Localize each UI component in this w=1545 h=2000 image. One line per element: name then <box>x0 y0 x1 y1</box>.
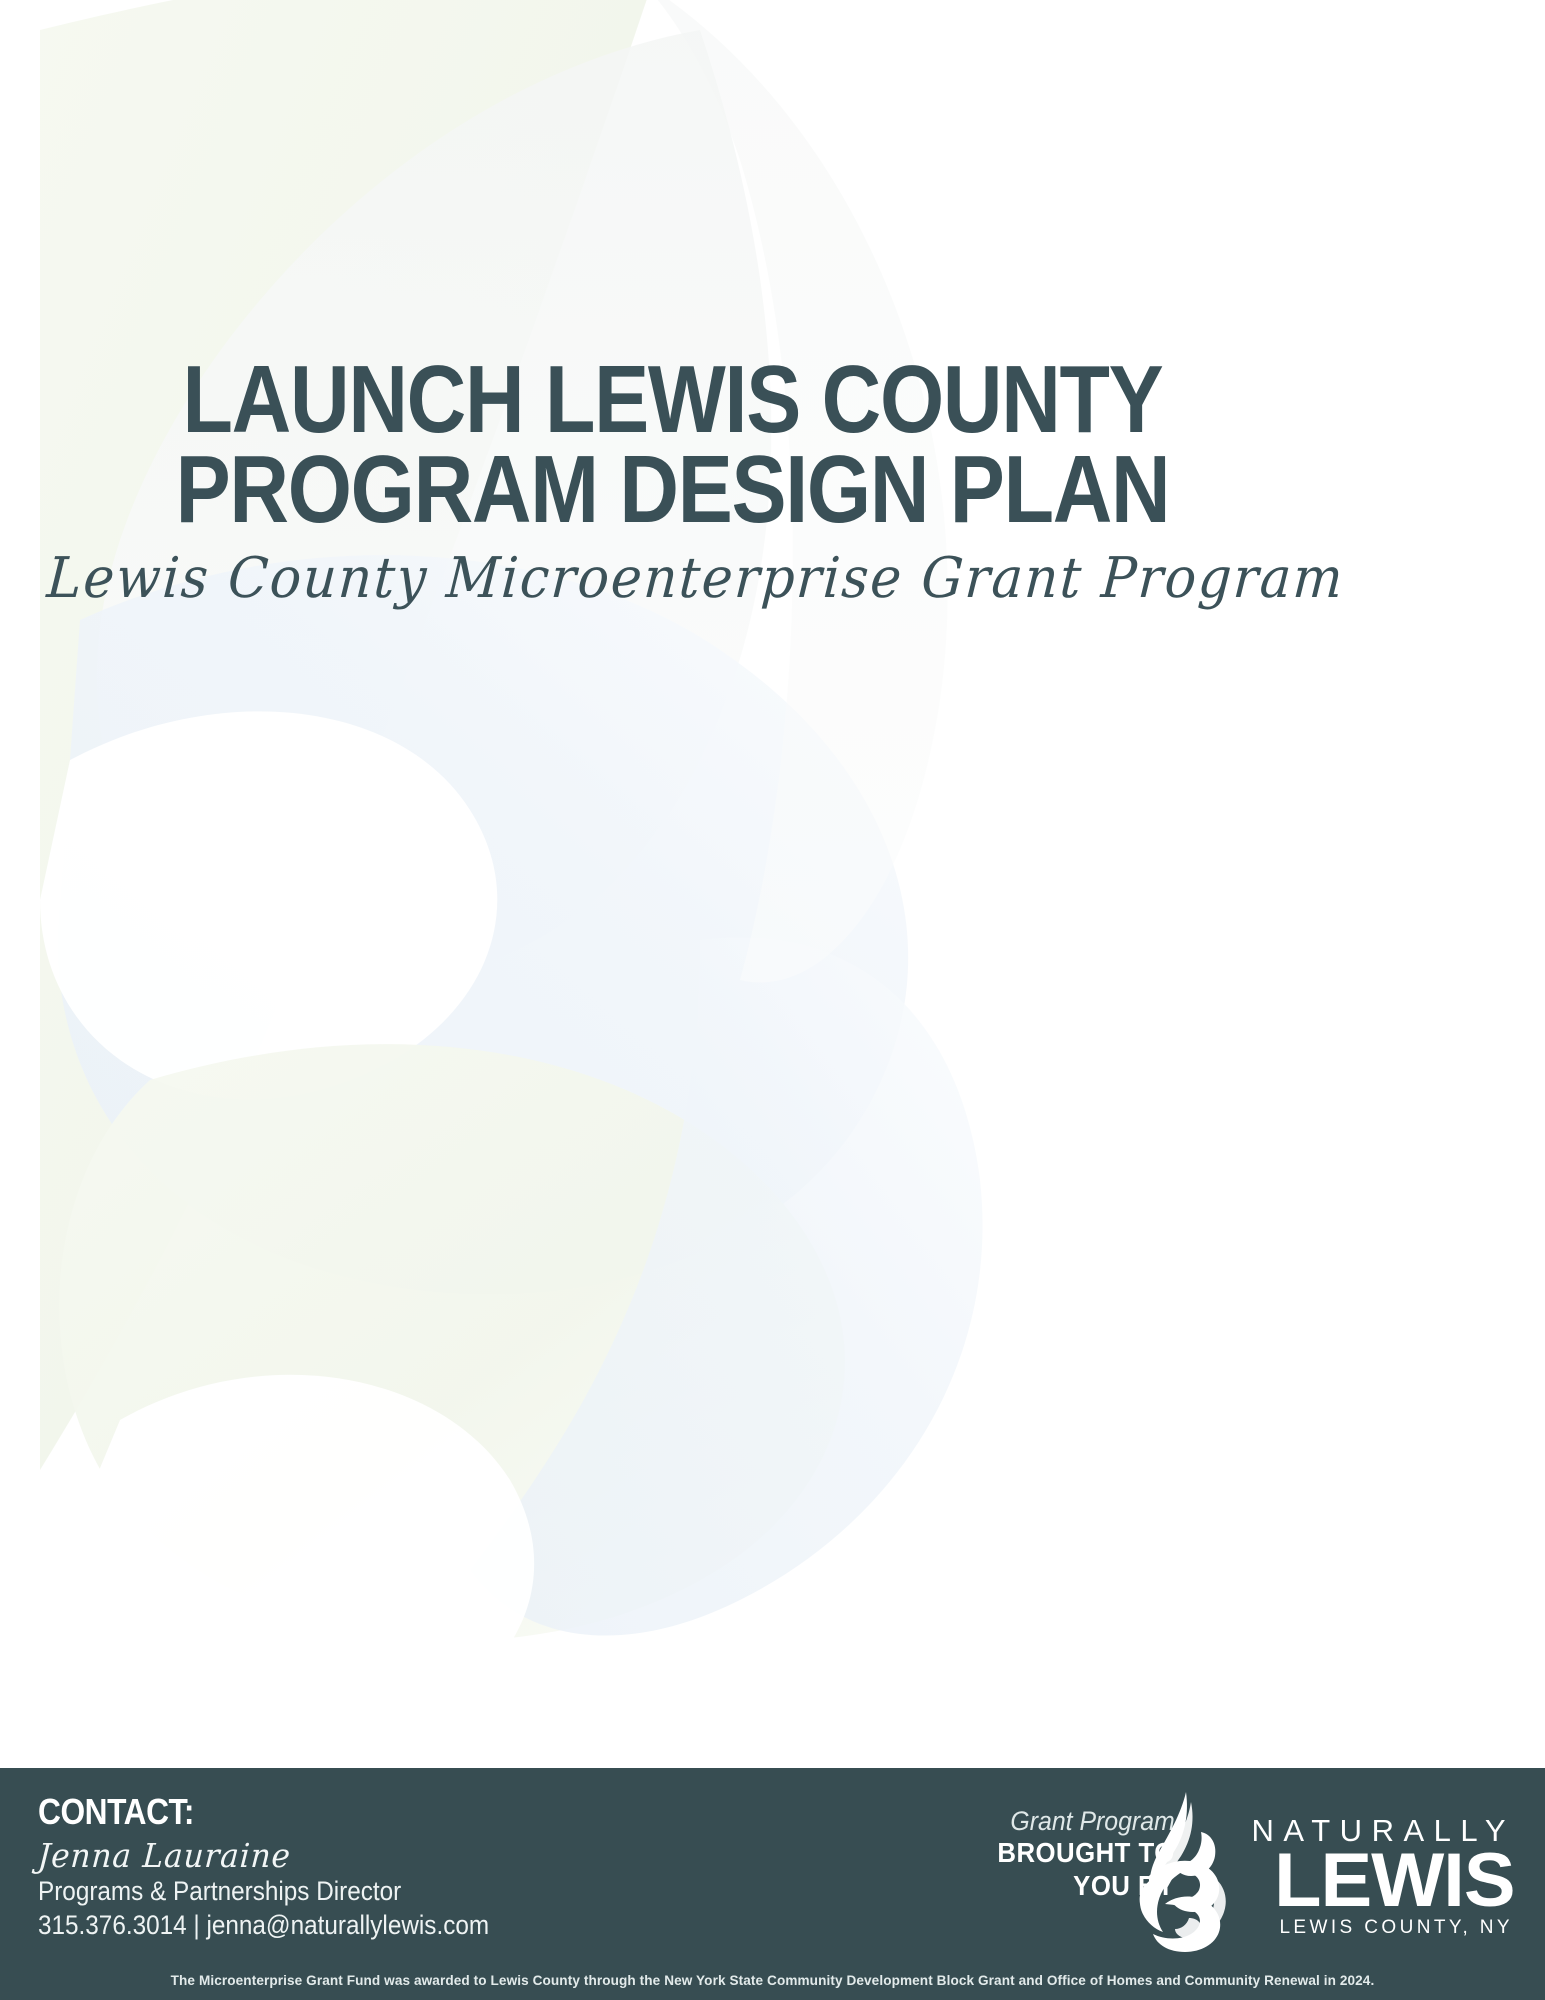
contact-heading: CONTACT: <box>38 1794 479 1830</box>
title-block: LAUNCH LEWIS COUNTY PROGRAM DESIGN PLAN … <box>0 355 1345 607</box>
contact-phone-email[interactable]: 315.376.3014 | jenna@naturallylewis.com <box>38 1908 489 1943</box>
contact-name: Jenna Lauraine <box>37 1838 511 1874</box>
contact-block: CONTACT: Jenna Lauraine Programs & Partn… <box>38 1794 539 1943</box>
logo-word-lewis: LEWIS <box>1240 1848 1515 1913</box>
document-cover-page: LAUNCH LEWIS COUNTY PROGRAM DESIGN PLAN … <box>0 0 1545 2000</box>
page-title-line-1: LAUNCH LEWIS COUNTY <box>94 355 1251 445</box>
page-title-line-2: PROGRAM DESIGN PLAN <box>94 445 1251 535</box>
naturally-lewis-logo: NATURALLY LEWIS LEWIS COUNTY, NY <box>1129 1788 1515 1960</box>
funding-disclaimer: The Microenterprise Grant Fund was award… <box>23 1972 1522 1988</box>
naturally-lewis-swirl-icon <box>1129 1788 1237 1960</box>
background-watermark-art <box>0 0 1545 2000</box>
page-subtitle: Lewis County Microenterprise Grant Progr… <box>45 551 1299 607</box>
footer-bar: CONTACT: Jenna Lauraine Programs & Partn… <box>0 1768 1545 2000</box>
logo-wordmark: NATURALLY LEWIS LEWIS COUNTY, NY <box>1245 1811 1515 1937</box>
contact-role: Programs & Partnerships Director <box>38 1874 489 1909</box>
watermark-swirl-group <box>40 0 983 1743</box>
